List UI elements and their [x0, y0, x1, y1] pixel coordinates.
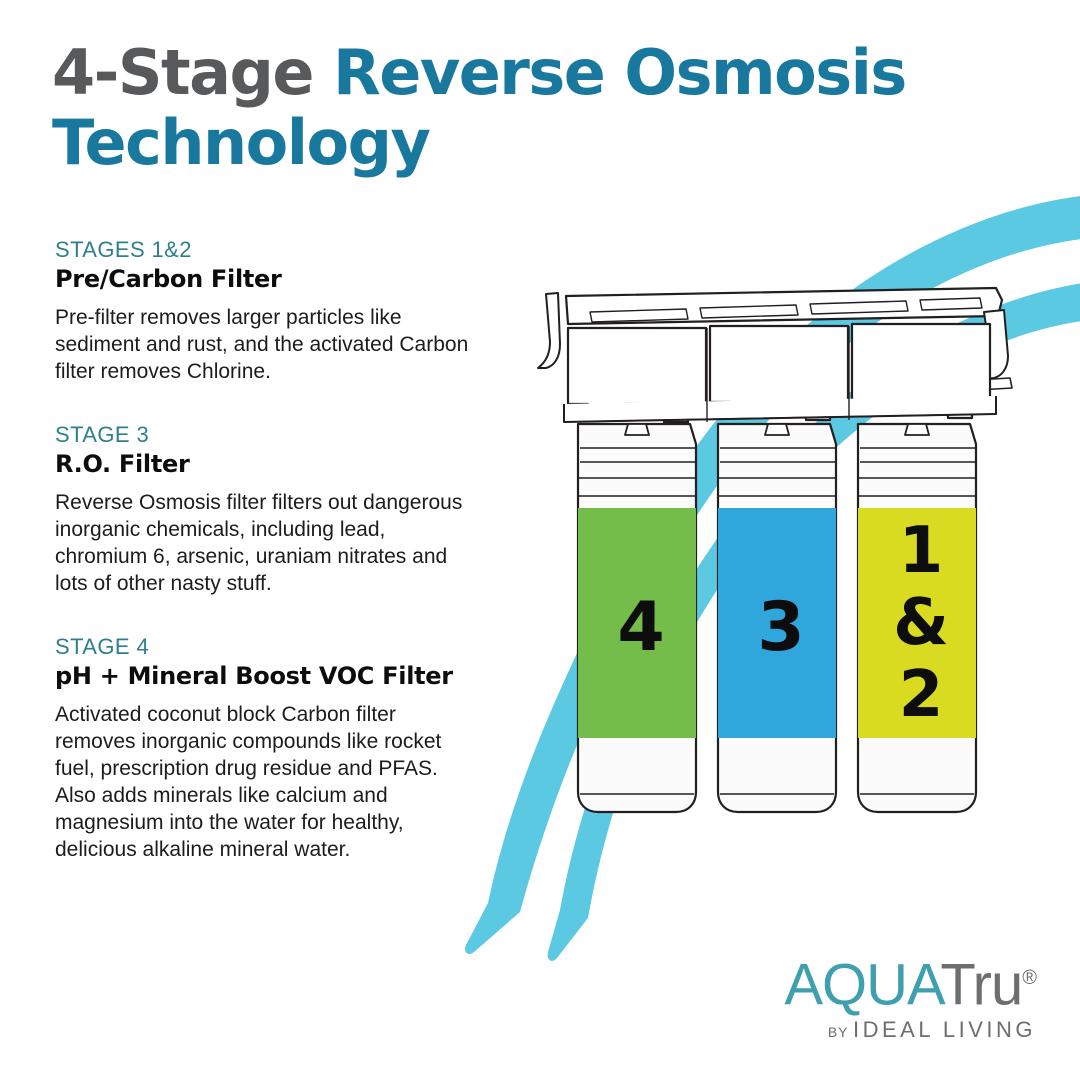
infographic-canvas: 4-Stage Reverse Osmosis Technology STAGE…	[0, 0, 1080, 1080]
cartridge-label-1-2-line-1: 1	[899, 514, 944, 588]
spacer-1	[55, 407, 475, 421]
title-stage-count: 4-Stage	[52, 36, 313, 109]
cartridge-nub-1-2	[905, 424, 929, 435]
logo-tru-text: Tru	[940, 952, 1022, 1017]
stage-block-4: STAGE 4 pH + Mineral Boost VOC Filter Ac…	[55, 633, 475, 863]
logo-subline: BY IDEAL LIVING	[636, 1017, 1036, 1043]
stage-title-4: pH + Mineral Boost VOC Filter	[55, 660, 475, 692]
logo-wordmark: AQUATru®	[636, 948, 1036, 1015]
stage-title-3: R.O. Filter	[55, 448, 475, 480]
title-technology: Technology	[52, 108, 952, 178]
stage-kicker-1-2: STAGES 1&2	[55, 236, 475, 264]
title-line-1: 4-Stage Reverse Osmosis	[52, 38, 952, 108]
stage-kicker-3: STAGE 3	[55, 421, 475, 449]
cartridge-nub-4	[625, 424, 649, 435]
title-reverse-osmosis: Reverse Osmosis	[333, 36, 906, 109]
cartridge-label-1-2-line-2: &	[893, 586, 949, 660]
stage-block-3: STAGE 3 R.O. Filter Reverse Osmosis filt…	[55, 421, 475, 597]
spacer-2	[55, 619, 475, 633]
brand-logo: AQUATru® BY IDEAL LIVING	[636, 948, 1036, 1043]
stage-body-3: Reverse Osmosis filter filters out dange…	[55, 489, 475, 597]
manifold-left-clip	[538, 293, 560, 368]
registered-trademark-icon: ®	[1022, 967, 1036, 989]
stage-body-1-2: Pre-filter removes larger particles like…	[55, 304, 475, 385]
stage-title-1-2: Pre/Carbon Filter	[55, 263, 475, 295]
cartridge-nub-3	[765, 424, 789, 435]
stages-copy-column: STAGES 1&2 Pre/Carbon Filter Pre-filter …	[55, 236, 475, 885]
page-title: 4-Stage Reverse Osmosis Technology	[52, 38, 952, 178]
filter-assembly-illustration: 4 3 1 & 2	[528, 272, 1028, 832]
logo-parent-brand: IDEAL LIVING	[853, 1017, 1036, 1042]
cartridge-label-3: 3	[757, 588, 804, 667]
logo-by-text: BY	[828, 1024, 849, 1040]
logo-aqua-text: AQUA	[784, 952, 940, 1017]
cartridge-label-1-2: 1 & 2	[893, 514, 949, 732]
cartridge-label-4: 4	[617, 588, 664, 667]
stage-kicker-4: STAGE 4	[55, 633, 475, 661]
stage-block-1-2: STAGES 1&2 Pre/Carbon Filter Pre-filter …	[55, 236, 475, 385]
stage-body-4: Activated coconut block Carbon filter re…	[55, 701, 475, 863]
cartridge-label-1-2-line-3: 2	[899, 658, 944, 732]
